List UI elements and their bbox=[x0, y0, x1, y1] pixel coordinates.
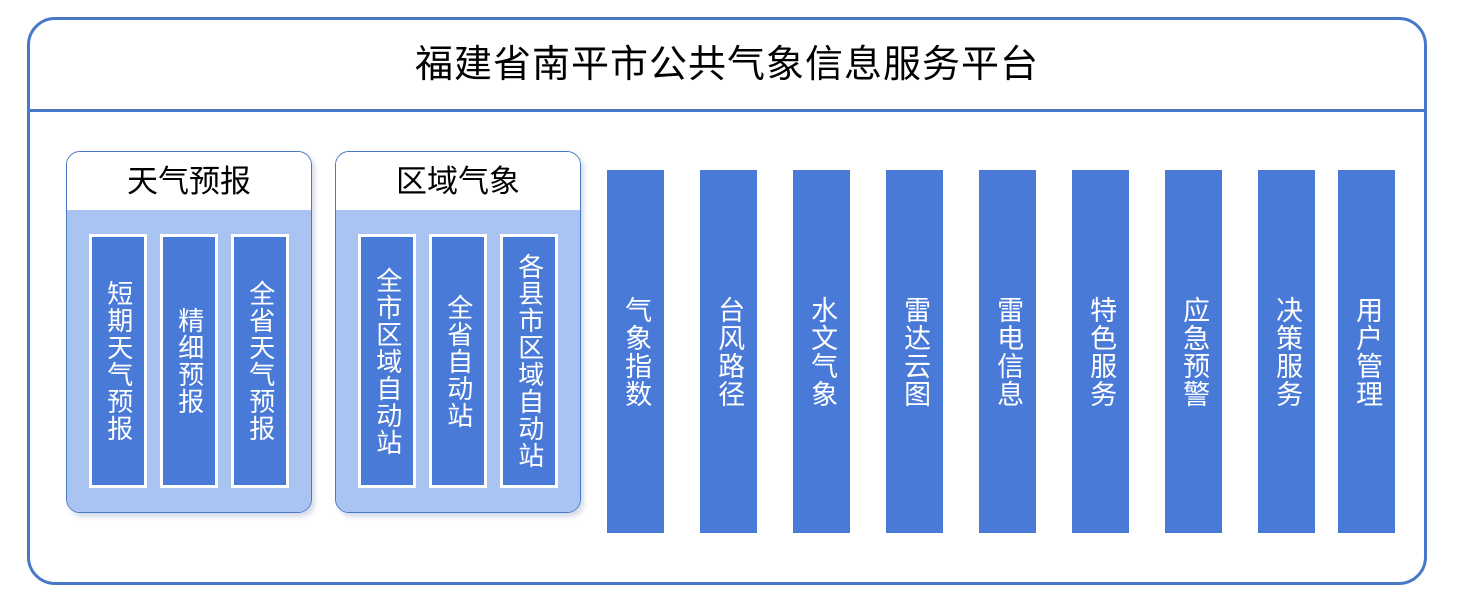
module-province-auto-station[interactable]: 全省自动站 bbox=[429, 234, 487, 488]
module-lightning-info[interactable]: 雷电信息 bbox=[979, 170, 1036, 533]
module-label: 用户管理 bbox=[1352, 296, 1381, 408]
module-label: 全市区域自动站 bbox=[373, 267, 401, 456]
module-featured-service[interactable]: 特色服务 bbox=[1072, 170, 1129, 533]
group-body-regional-meteorology: 全市区域自动站 全省自动站 各县市区域自动站 bbox=[336, 210, 580, 512]
module-label: 全省自动站 bbox=[444, 294, 472, 429]
module-emergency-warning[interactable]: 应急预警 bbox=[1165, 170, 1222, 533]
module-county-auto-station[interactable]: 各县市区域自动站 bbox=[500, 234, 558, 488]
group-header-weather-forecast: 天气预报 bbox=[67, 152, 311, 210]
module-label: 气象指数 bbox=[621, 296, 650, 408]
module-label: 特色服务 bbox=[1086, 296, 1115, 408]
module-label: 全省天气预报 bbox=[246, 280, 274, 442]
module-group-regional-meteorology[interactable]: 区域气象 全市区域自动站 全省自动站 各县市区域自动站 bbox=[335, 151, 581, 513]
module-city-auto-station[interactable]: 全市区域自动站 bbox=[358, 234, 416, 488]
group-body-weather-forecast: 短期天气预报 精细预报 全省天气预报 bbox=[67, 210, 311, 512]
module-label: 水文气象 bbox=[807, 296, 836, 408]
module-label: 应急预警 bbox=[1179, 296, 1208, 408]
module-province-forecast[interactable]: 全省天气预报 bbox=[231, 234, 289, 488]
group-title-weather-forecast: 天气预报 bbox=[127, 166, 251, 197]
diagram-canvas: 福建省南平市公共气象信息服务平台 天气预报 短期天气预报 精细预报 全省天气预报 bbox=[0, 0, 1458, 610]
module-label: 各县市区域自动站 bbox=[515, 253, 543, 469]
module-fine-forecast[interactable]: 精细预报 bbox=[160, 234, 218, 488]
module-label: 精细预报 bbox=[175, 307, 203, 415]
module-user-management[interactable]: 用户管理 bbox=[1338, 170, 1395, 533]
platform-title-bar: 福建省南平市公共气象信息服务平台 bbox=[30, 20, 1424, 112]
module-label: 决策服务 bbox=[1272, 296, 1301, 408]
module-weather-index[interactable]: 气象指数 bbox=[607, 170, 664, 533]
module-hydro-meteorology[interactable]: 水文气象 bbox=[793, 170, 850, 533]
page-title: 福建省南平市公共气象信息服务平台 bbox=[415, 46, 1039, 84]
modules-area: 天气预报 短期天气预报 精细预报 全省天气预报 区域气象 bbox=[30, 115, 1424, 582]
module-decision-service[interactable]: 决策服务 bbox=[1258, 170, 1315, 533]
module-label: 短期天气预报 bbox=[104, 280, 132, 442]
module-label: 台风路径 bbox=[714, 296, 743, 408]
module-label: 雷电信息 bbox=[993, 296, 1022, 408]
module-group-weather-forecast[interactable]: 天气预报 短期天气预报 精细预报 全省天气预报 bbox=[66, 151, 312, 513]
module-radar-cloud-map[interactable]: 雷达云图 bbox=[886, 170, 943, 533]
platform-frame: 福建省南平市公共气象信息服务平台 天气预报 短期天气预报 精细预报 全省天气预报 bbox=[27, 17, 1427, 585]
module-short-term-forecast[interactable]: 短期天气预报 bbox=[89, 234, 147, 488]
module-typhoon-track[interactable]: 台风路径 bbox=[700, 170, 757, 533]
group-title-regional-meteorology: 区域气象 bbox=[396, 166, 520, 197]
group-header-regional-meteorology: 区域气象 bbox=[336, 152, 580, 210]
module-label: 雷达云图 bbox=[900, 296, 929, 408]
